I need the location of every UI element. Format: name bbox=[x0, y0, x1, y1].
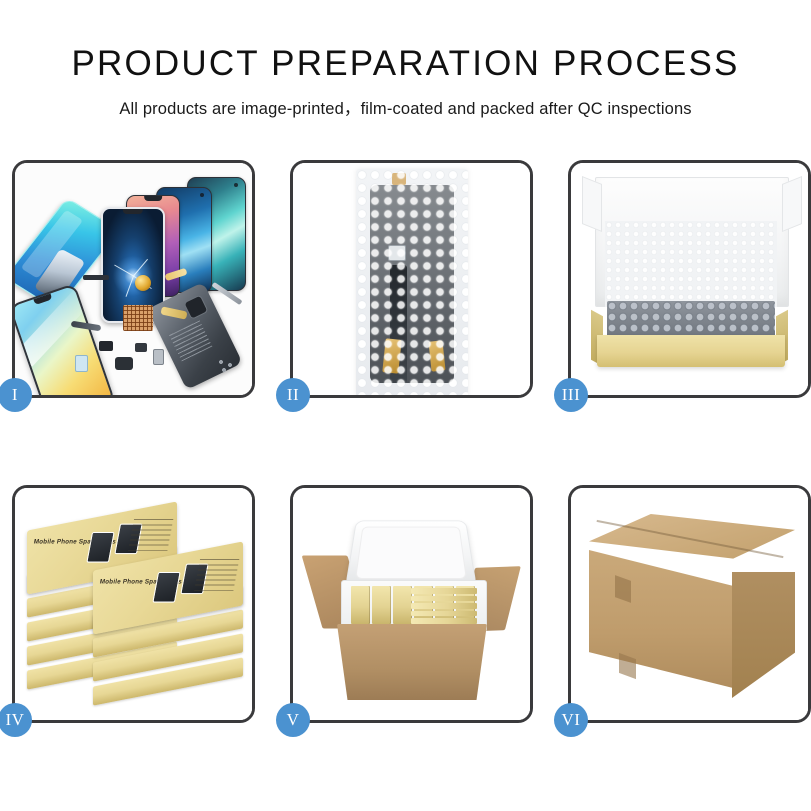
part-bracket bbox=[83, 275, 109, 280]
header: PRODUCT PREPARATION PROCESS All products… bbox=[0, 0, 811, 119]
step-panel-6[interactable]: VI bbox=[568, 485, 811, 723]
foam-lid-graphic bbox=[345, 520, 477, 587]
step-2-image bbox=[293, 163, 530, 395]
step-1-image bbox=[15, 163, 252, 395]
bubble-wrap-package-graphic bbox=[356, 169, 468, 395]
step-panel-4[interactable]: Mobile Phone Spare Parts Mobile Phone Sp… bbox=[12, 485, 255, 723]
step-badge-5: V bbox=[276, 703, 310, 737]
part-sim-tray bbox=[75, 355, 88, 372]
step-panel-3[interactable]: III bbox=[568, 160, 811, 398]
part-battery-connector bbox=[153, 349, 164, 365]
foam-liner-graphic bbox=[605, 221, 777, 307]
steps-grid: I II bbox=[12, 160, 811, 723]
sealed-carton-graphic bbox=[589, 514, 795, 700]
part-speaker bbox=[115, 357, 133, 370]
screws-graphic bbox=[218, 359, 236, 373]
step-3-image bbox=[571, 163, 808, 395]
carton-body-graphic bbox=[337, 624, 487, 700]
step-panel-1[interactable]: I bbox=[12, 160, 255, 398]
part-chip-2 bbox=[135, 343, 147, 352]
step-badge-2: II bbox=[276, 378, 310, 412]
product-preparation-infographic: PRODUCT PREPARATION PROCESS All products… bbox=[0, 0, 811, 811]
step-5-image bbox=[293, 488, 530, 720]
step-6-image bbox=[571, 488, 808, 720]
inner-boxes-stack-graphic bbox=[411, 588, 477, 624]
part-vibrator-motor bbox=[135, 275, 151, 291]
part-mesh-grid bbox=[123, 305, 153, 331]
step-badge-1: I bbox=[0, 378, 32, 412]
page-title: PRODUCT PREPARATION PROCESS bbox=[0, 0, 811, 84]
step-badge-4: IV bbox=[0, 703, 32, 737]
page-subtitle: All products are image-printed，film-coat… bbox=[0, 84, 811, 119]
box-front-panel-graphic bbox=[597, 335, 785, 367]
step-panel-5[interactable]: V bbox=[290, 485, 533, 723]
step-4-image: Mobile Phone Spare Parts Mobile Phone Sp… bbox=[15, 488, 252, 720]
step-badge-3: III bbox=[554, 378, 588, 412]
step-badge-6: VI bbox=[554, 703, 588, 737]
part-chip-1 bbox=[99, 341, 113, 351]
step-panel-2[interactable]: II bbox=[290, 160, 533, 398]
